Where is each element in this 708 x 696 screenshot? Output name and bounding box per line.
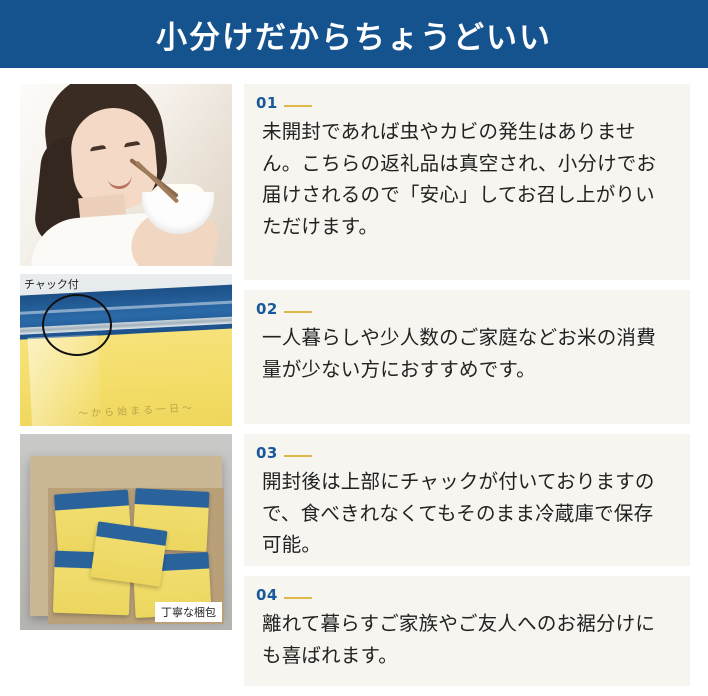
card-text: 離れて暮らすご家族やご友人へのお裾分けにも喜ばれます。 <box>262 608 672 671</box>
info-card-02: 02 一人暮らしや少人数のご家庭などお米の消費量が少ない方におすすめです。 <box>244 290 690 424</box>
cardboard-box <box>30 456 222 616</box>
card-number: 01 <box>256 94 278 112</box>
text-card-column: 01 未開封であれば虫やカビの発生はありません。こちらの返礼品は真空され、小分け… <box>244 84 690 696</box>
packing-caption-label: 丁寧な梱包 <box>155 602 222 622</box>
content-area: 〜から始まる一日〜 チャック付 丁寧な梱包 01 <box>0 68 708 692</box>
info-card-04: 04 離れて暮らすご家族やご友人へのお裾分けにも喜ばれます。 <box>244 576 690 686</box>
card-accent-rule <box>284 105 312 107</box>
card-accent-rule <box>284 597 312 599</box>
zipper-annotation-label: チャック付 <box>24 276 79 292</box>
annotation-circle <box>42 294 112 356</box>
card-text: 未開封であれば虫やカビの発生はありません。こちらの返礼品は真空され、小分けでお届… <box>262 116 672 242</box>
card-number: 03 <box>256 444 278 462</box>
card-number: 04 <box>256 586 278 604</box>
card-accent-rule <box>284 311 312 313</box>
photo-zipper-pack: 〜から始まる一日〜 チャック付 <box>20 274 232 426</box>
page-root: 小分けだからちょうどいい <box>0 0 708 692</box>
page-header: 小分けだからちょうどいい <box>0 0 708 68</box>
card-accent-rule <box>284 455 312 457</box>
info-card-01: 01 未開封であれば虫やカビの発生はありません。こちらの返礼品は真空され、小分け… <box>244 84 690 280</box>
card-text: 開封後は上部にチャックが付いておりますので、食べきれなくてもそのまま冷蔵庫で保存… <box>262 466 672 561</box>
photo-woman-eating-rice <box>20 84 232 266</box>
card-number: 02 <box>256 300 278 318</box>
rice-pack <box>90 521 167 586</box>
photo-column: 〜から始まる一日〜 チャック付 丁寧な梱包 <box>20 84 232 630</box>
photo-packed-box: 丁寧な梱包 <box>20 434 232 630</box>
info-card-03: 03 開封後は上部にチャックが付いておりますので、食べきれなくてもそのまま冷蔵庫… <box>244 434 690 566</box>
card-text: 一人暮らしや少人数のご家庭などお米の消費量が少ない方におすすめです。 <box>262 322 672 385</box>
page-title: 小分けだからちょうどいい <box>156 12 552 57</box>
